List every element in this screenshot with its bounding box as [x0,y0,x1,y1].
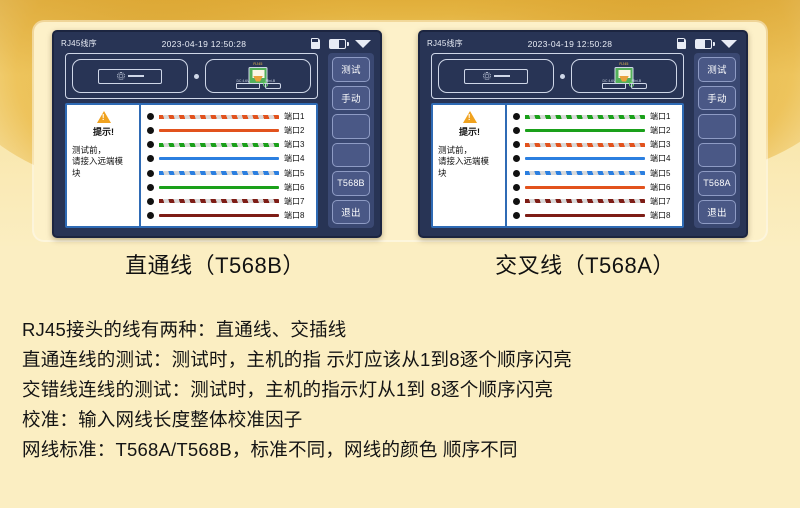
sd-card-icon [311,38,320,49]
softkey-empty [332,143,370,168]
hardware-illustration: RJ45DC 4.6VMini-B [65,53,318,99]
wire-row: 端口3 [147,138,312,151]
caption-row: 直通线（T568B）交叉线（T568A） [0,248,800,280]
softkey-button-6[interactable]: 退出 [698,200,736,225]
wire-green [159,186,279,189]
tip-body-text: 测试前， 请接入远端模 块 [438,145,489,179]
wire-map-list: 端口1端口2端口3端口4端口5端口6端口7端口8 [141,105,316,226]
dc-power-port-icon: DC 4.6V [602,83,626,89]
wire-row: 端口6 [147,181,312,194]
port-label: 端口7 [650,196,678,207]
usb-port-label: Mini-B [266,79,276,83]
tip-body-text: 测试前， 请接入远端模 块 [72,145,123,179]
port-led-indicator [147,155,154,162]
usb-port-icon: Mini-B [631,83,647,89]
port-led-indicator [147,170,154,177]
wire-blue-white [159,171,279,175]
tip-panel: 提示!测试前， 请接入远端模 块 [433,105,507,226]
port-led-indicator [147,141,154,148]
screen-line [494,75,510,76]
port-led-indicator [147,198,154,205]
note-line: 校准：输入网线长度整体校准因子 [22,405,786,435]
remote-unit-outline: RJ45DC 4.6VMini-B [205,59,311,93]
dc-port-label: DC 4.6V [603,79,616,83]
wire-green-white [159,143,279,147]
wire-row: 端口7 [147,195,312,208]
remote-unit-outline: RJ45DC 4.6VMini-B [571,59,677,93]
port-label: 端口7 [284,196,312,207]
backlight-icon [483,72,491,80]
softkey-button-2[interactable]: 手动 [698,86,736,111]
softkey-button-1[interactable]: 测试 [698,57,736,82]
backlight-icon [117,72,125,80]
note-line: 交错线连线的测试：测试时，主机的指示灯从1到 8逐个顺序闪亮 [22,375,786,405]
port-led-indicator [513,113,520,120]
device-caption: 交叉线（T568A） [418,248,752,280]
softkey-button-2[interactable]: 手动 [332,86,370,111]
wire-row: 端口8 [513,209,678,222]
softkey-button-6[interactable]: 退出 [332,200,370,225]
screen-line [128,75,144,76]
wire-orange-white [159,115,279,119]
device-gallery: RJ45线序2023-04-19 12:50:28RJ45DC 4.6VMini… [0,30,800,238]
softkey-t568b[interactable]: T568B [332,171,370,196]
port-label: 端口6 [650,182,678,193]
port-label: 端口4 [284,153,312,164]
rj45-port-label: RJ45 [253,62,262,66]
port-label: 端口8 [284,210,312,221]
handheld-unit-outline [438,59,554,93]
wire-blue-white [525,171,645,175]
results-panel: 提示!测试前， 请接入远端模 块端口1端口2端口3端口4端口5端口6端口7端口8 [65,103,318,228]
port-led-indicator [513,198,520,205]
chevron-down-icon[interactable] [721,40,737,48]
wire-green [525,129,645,132]
usb-port-label: Mini-B [632,79,642,83]
port-label: 端口5 [650,168,678,179]
notes-block: RJ45接头的线有两种：直通线、交插线直通连线的测试：测试时，主机的指 示灯应该… [22,315,786,465]
wire-blue [525,157,645,160]
softkey-column: 测试手动T568B退出 [328,53,374,228]
battery-icon [329,39,346,49]
dc-port-label: DC 4.6V [237,79,250,83]
softkey-column: 测试手动T568A退出 [694,53,740,228]
status-icons [677,38,739,49]
wire-blue [159,157,279,160]
hardware-illustration: RJ45DC 4.6VMini-B [431,53,684,99]
port-led-indicator [513,155,520,162]
port-label: 端口2 [650,125,678,136]
wire-row: 端口5 [513,167,678,180]
screen-title: RJ45线序 [61,38,97,49]
port-label: 端口4 [650,153,678,164]
softkey-button-1[interactable]: 测试 [332,57,370,82]
status-bar: RJ45线序2023-04-19 12:50:28 [57,35,377,52]
port-label: 端口1 [284,111,312,122]
wire-row: 端口6 [513,181,678,194]
tip-heading: 提示! [459,125,480,138]
note-line: 网线标准：T568A/T568B，标准不同，网线的颜色 顺序不同 [22,435,786,465]
port-label: 端口2 [284,125,312,136]
port-led-indicator [147,113,154,120]
status-bar: RJ45线序2023-04-19 12:50:28 [423,35,743,52]
device-caption: 直通线（T568B） [48,248,382,280]
screen-title: RJ45线序 [427,38,463,49]
device-body: RJ45DC 4.6VMini-B提示!测试前， 请接入远端模 块端口1端口2端… [423,52,743,233]
port-label: 端口5 [284,168,312,179]
tip-heading: 提示! [93,125,114,138]
wire-row: 端口5 [147,167,312,180]
port-label: 端口3 [284,139,312,150]
softkey-empty [698,143,736,168]
connector-dot-icon [560,74,565,79]
handheld-unit-outline [72,59,188,93]
port-led-indicator [513,212,520,219]
device-screen-icon [464,69,528,84]
battery-icon [695,39,712,49]
warning-triangle-icon [463,111,477,123]
softkey-empty [332,114,370,139]
wire-row: 端口2 [147,124,312,137]
wire-row: 端口4 [513,152,678,165]
connector-dot-icon [194,74,199,79]
port-led-indicator [147,127,154,134]
rj45-port-label: RJ45 [619,62,628,66]
port-led-indicator [513,184,520,191]
wire-row: 端口3 [513,138,678,151]
dc-power-port-icon: DC 4.6V [236,83,260,89]
wire-brown [525,214,645,217]
clock-text: 2023-04-19 12:50:28 [97,39,311,49]
wire-orange [159,129,279,132]
wire-green-white [525,115,645,119]
tester-device-right: RJ45线序2023-04-19 12:50:28RJ45DC 4.6VMini… [418,30,748,238]
chevron-down-icon[interactable] [355,40,371,48]
wire-brown-white [525,199,645,203]
softkey-empty [698,114,736,139]
port-label: 端口6 [284,182,312,193]
note-line: 直通连线的测试：测试时，主机的指 示灯应该从1到8逐个顺序闪亮 [22,345,786,375]
results-panel: 提示!测试前， 请接入远端模 块端口1端口2端口3端口4端口5端口6端口7端口8 [431,103,684,228]
device-main-area: RJ45DC 4.6VMini-B提示!测试前， 请接入远端模 块端口1端口2端… [425,52,690,230]
wire-map-list: 端口1端口2端口3端口4端口5端口6端口7端口8 [507,105,682,226]
port-label: 端口1 [650,111,678,122]
wire-row: 端口1 [147,110,312,123]
status-icons [311,38,373,49]
device-main-area: RJ45DC 4.6VMini-B提示!测试前， 请接入远端模 块端口1端口2端… [59,52,324,230]
port-label: 端口8 [650,210,678,221]
device-screen-icon [98,69,162,84]
softkey-t568a[interactable]: T568A [698,171,736,196]
port-led-indicator [513,170,520,177]
device-body: RJ45DC 4.6VMini-B提示!测试前， 请接入远端模 块端口1端口2端… [57,52,377,233]
tester-device-left: RJ45线序2023-04-19 12:50:28RJ45DC 4.6VMini… [52,30,382,238]
port-led-indicator [147,184,154,191]
sd-card-icon [677,38,686,49]
port-label: 端口3 [650,139,678,150]
wire-row: 端口8 [147,209,312,222]
wire-row: 端口2 [513,124,678,137]
note-line: RJ45接头的线有两种：直通线、交插线 [22,315,786,345]
usb-port-icon: Mini-B [265,83,281,89]
wire-row: 端口4 [147,152,312,165]
tip-panel: 提示!测试前， 请接入远端模 块 [67,105,141,226]
wire-row: 端口7 [513,195,678,208]
wire-brown-white [159,199,279,203]
wire-brown [159,214,279,217]
port-led-indicator [513,127,520,134]
wire-orange-white [525,143,645,147]
port-led-indicator [147,212,154,219]
clock-text: 2023-04-19 12:50:28 [463,39,677,49]
wire-row: 端口1 [513,110,678,123]
wire-orange [525,186,645,189]
warning-triangle-icon [97,111,111,123]
port-led-indicator [513,141,520,148]
